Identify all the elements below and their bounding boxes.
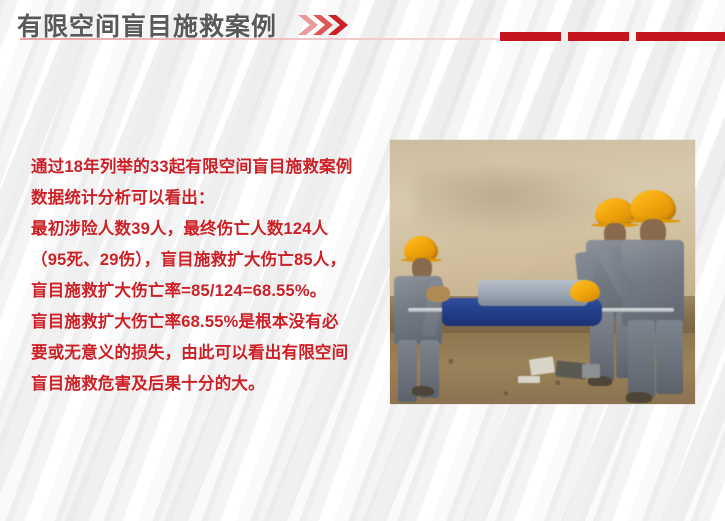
text-line-1: 通过18年列举的33起有限空间盲目施救案例 — [31, 152, 383, 183]
slide-header: 有限空间盲目施救案例 — [0, 0, 725, 46]
slide-root: 有限空间盲目施救案例 通过18年列举的33起有限空间盲目施救案例 数据统计分析可… — [0, 0, 725, 521]
analysis-text-block: 通过18年列举的33起有限空间盲目施救案例 数据统计分析可以看出： 最初涉险人数… — [31, 152, 383, 400]
double-chevron-right-icon — [296, 13, 358, 37]
victim-hard-hat-icon — [570, 280, 600, 302]
text-line-7: 要或无意义的损失，由此可以看出有限空间 — [31, 338, 383, 369]
text-line-5: 盲目施救扩大伤亡率=85/124=68.55%。 — [31, 276, 383, 307]
victim-hands — [426, 286, 450, 302]
text-line-3: 最初涉险人数39人，最终伤亡人数124人 — [31, 214, 383, 245]
text-line-6: 盲目施救扩大伤亡率68.55%是根本没有必 — [31, 307, 383, 338]
title-underline-rule — [20, 38, 500, 40]
debris-scrap — [518, 376, 540, 383]
worker-shoe — [626, 392, 652, 403]
worker-leg-right — [656, 320, 683, 394]
text-line-8: 盲目施救危害及后果十分的大。 — [31, 369, 383, 400]
debris-paper — [529, 356, 555, 375]
rescue-stretcher-photo — [390, 140, 695, 404]
worker-leg-left — [628, 320, 655, 398]
top-accent-bar-3 — [636, 32, 725, 41]
debris-box — [582, 364, 600, 378]
top-accent-bar-2 — [568, 32, 629, 41]
worker-shoe — [412, 386, 434, 396]
text-line-2: 数据统计分析可以看出： — [31, 183, 383, 214]
text-line-4: （95死、29伤），盲目施救扩大伤亡85人， — [31, 245, 383, 276]
top-accent-bar-1 — [500, 32, 561, 41]
